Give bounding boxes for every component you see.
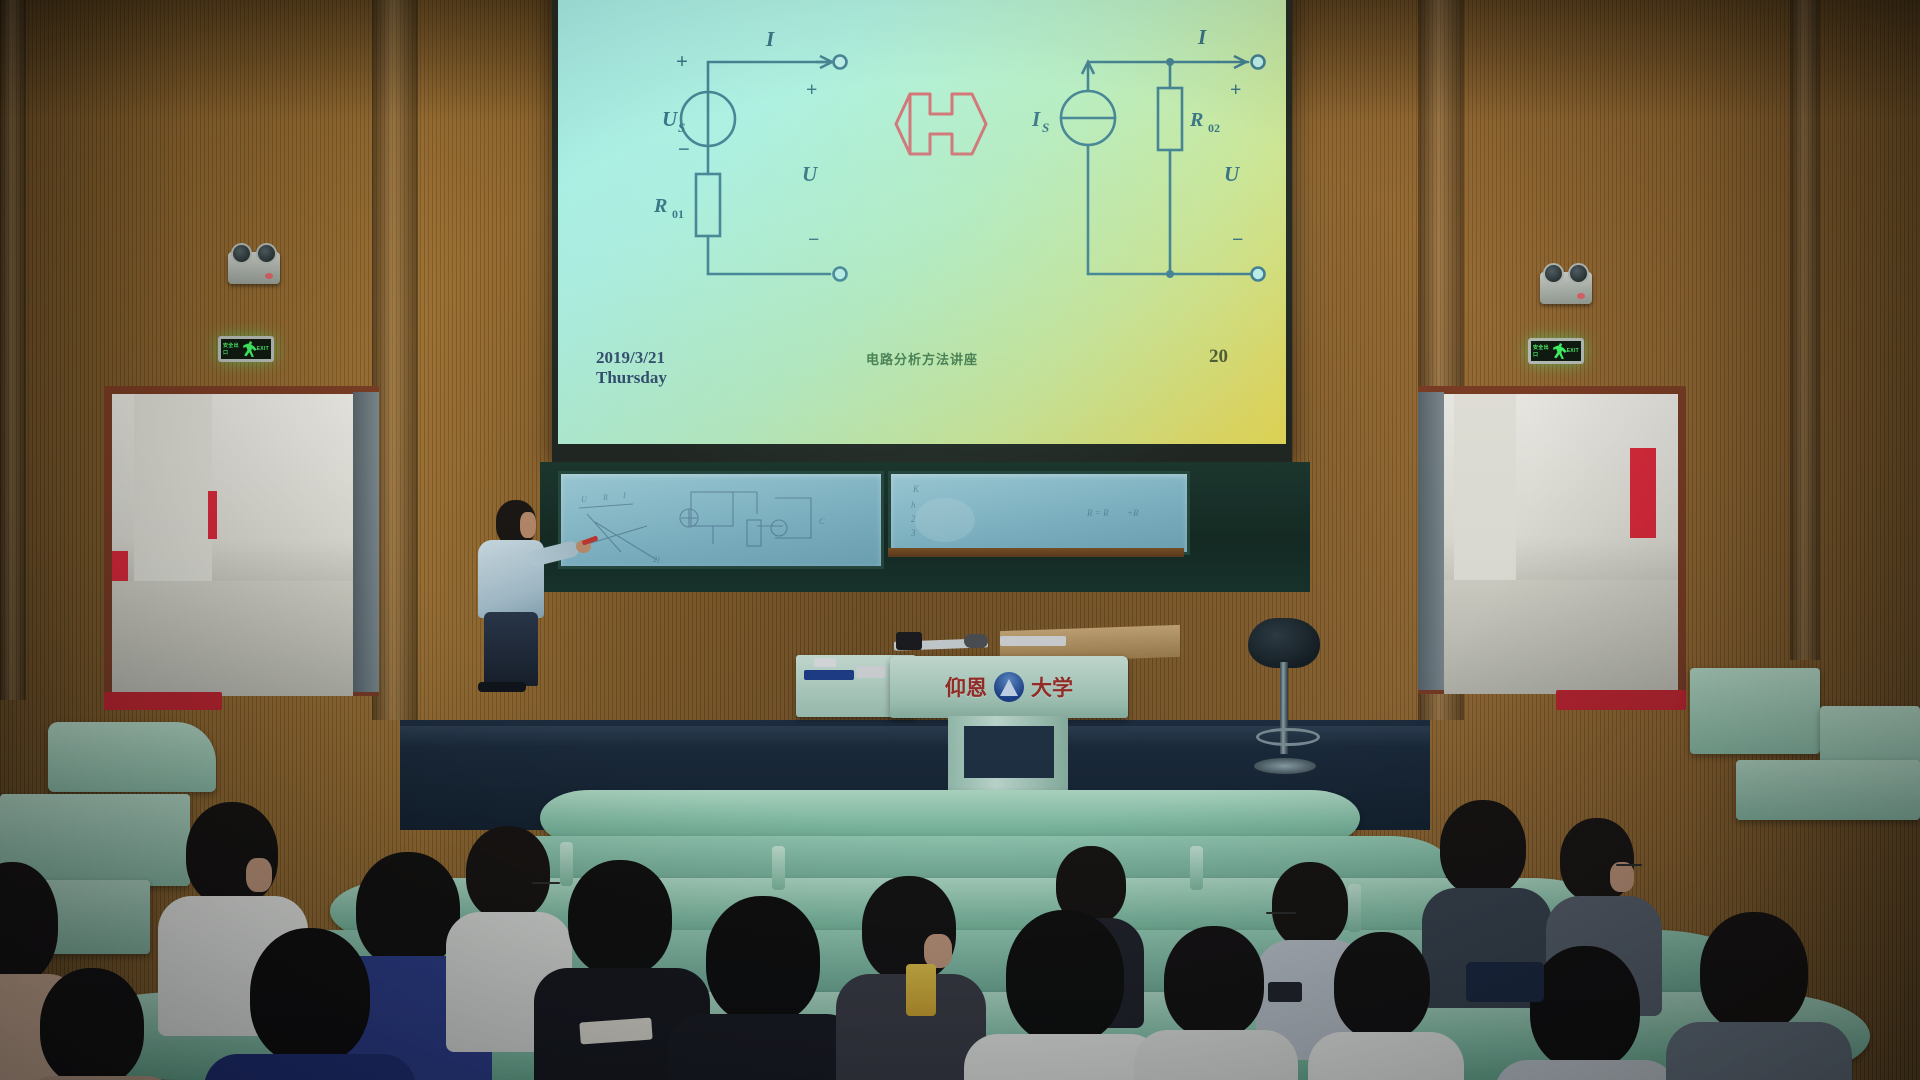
- slide-footer-title: 电路分析方法讲座: [558, 349, 1286, 368]
- student-torso: [1494, 1060, 1678, 1080]
- whiteboard-rail: [888, 548, 1184, 557]
- slide-surface: 电路分析方法 U: [558, 0, 1286, 444]
- lecture-hall-photo: 安全出口 EXIT 安全出口 EXIT 电路分析方法: [0, 0, 1920, 1080]
- side-desk-right-upper: [1690, 668, 1820, 754]
- svg-text:U: U: [802, 162, 819, 186]
- student-neck: [246, 858, 272, 892]
- side-desk-left-upper: [48, 722, 216, 792]
- whiteboard-right: Kh 23 R = R+R: [888, 471, 1190, 555]
- svg-text:h: h: [911, 500, 916, 510]
- exit-sign-label-cn: 安全出口: [223, 342, 243, 356]
- student-torso: [1308, 1032, 1464, 1080]
- svg-text:S: S: [678, 120, 685, 135]
- equipment-case: [804, 670, 854, 680]
- corridor-red-panel: [1630, 448, 1656, 538]
- bar-stool: [1240, 618, 1330, 788]
- student-head: [706, 896, 820, 1024]
- bag-on-seat: [1466, 962, 1544, 1002]
- student-torso: [668, 1014, 860, 1080]
- glasses-icon: [1616, 864, 1642, 866]
- student-torso: [1134, 1030, 1298, 1080]
- running-man-icon: [243, 341, 257, 357]
- floor-red-band-left: [104, 692, 222, 710]
- speaker-driver-icon: [1568, 263, 1589, 284]
- podium-monitor[interactable]: [964, 726, 1054, 778]
- student-neck: [924, 934, 952, 968]
- student-torso: [20, 1076, 180, 1080]
- svg-text:K: K: [912, 484, 920, 494]
- whiteboard-right-notes: Kh 23 R = R+R: [891, 474, 1187, 552]
- slide-page-number: 20: [1209, 346, 1228, 368]
- side-desk-right-far: [1736, 760, 1920, 820]
- wall-pilaster-far-left: [0, 0, 26, 700]
- svg-text:−: −: [678, 137, 690, 161]
- student-head: [1334, 932, 1430, 1040]
- university-name-part2: 大学: [1031, 672, 1073, 702]
- svg-text:U: U: [581, 495, 588, 504]
- jacket-on-stool: [1248, 618, 1320, 668]
- svg-text:2): 2): [653, 555, 660, 564]
- corridor-view-left: [112, 394, 353, 696]
- lecturer-face: [520, 512, 536, 538]
- student-neck: [1610, 862, 1634, 892]
- status-led-icon: [265, 273, 273, 279]
- lecturer-legs: [484, 612, 538, 686]
- board-surround: URI 2)C Kh 23 R = R+R: [540, 462, 1310, 592]
- student-head: [568, 860, 672, 976]
- computer-mouse-icon: [964, 634, 988, 648]
- svg-text:I: I: [622, 491, 626, 500]
- stool-base: [1254, 758, 1316, 774]
- equipment-item: [814, 658, 836, 667]
- speaker-driver-icon: [256, 243, 277, 264]
- door-leaf-right[interactable]: [1418, 392, 1444, 690]
- svg-text:−: −: [808, 229, 819, 251]
- door-leaf-left[interactable]: [353, 392, 379, 692]
- doorway-right: [1418, 386, 1686, 694]
- svg-text:R: R: [653, 195, 667, 217]
- wall-speaker-icon: [228, 252, 280, 284]
- svg-text:I: I: [1197, 25, 1207, 49]
- student-head: [250, 928, 370, 1064]
- svg-text:02: 02: [1208, 121, 1220, 135]
- student-head: [1440, 800, 1526, 896]
- wall-pilaster-far-right: [1790, 0, 1820, 660]
- corridor-floor: [1444, 580, 1678, 694]
- stool-footring: [1256, 728, 1320, 746]
- projection-screen: 电路分析方法 U: [552, 0, 1292, 462]
- whiteboard-left: URI 2)C: [558, 471, 884, 569]
- corridor-floor: [112, 581, 353, 696]
- snack-cup: [906, 964, 936, 1016]
- student-head: [1700, 912, 1808, 1032]
- svg-text:I: I: [1031, 107, 1041, 131]
- svg-text:+R: +R: [1127, 508, 1139, 518]
- svg-text:C: C: [819, 517, 825, 526]
- svg-text:S: S: [1042, 120, 1049, 135]
- seat-divider: [1348, 884, 1361, 932]
- yangen-university-shell-emblem: [994, 672, 1024, 702]
- wall-speaker-icon: [1540, 272, 1592, 304]
- exit-sign-right: 安全出口 EXIT: [1528, 338, 1584, 364]
- svg-text:+: +: [676, 49, 688, 73]
- equipment-box: [856, 666, 886, 678]
- lecturer-shoes: [478, 682, 526, 692]
- speaker-driver-icon: [1543, 263, 1564, 284]
- svg-text:U: U: [1224, 162, 1241, 186]
- circuit-diagram: U S + − R 01 I + U −: [558, 0, 1286, 326]
- exit-sign-label-en: EXIT: [257, 346, 269, 352]
- seat-divider: [1190, 846, 1203, 890]
- phone-device: [1268, 982, 1302, 1002]
- seat-divider: [772, 846, 785, 890]
- svg-text:I: I: [765, 27, 775, 51]
- svg-text:U: U: [662, 107, 679, 131]
- podium-cable: [1000, 636, 1066, 646]
- svg-text:3: 3: [910, 528, 916, 538]
- exit-sign-label-en: EXIT: [1567, 348, 1579, 354]
- svg-text:01: 01: [672, 207, 684, 221]
- running-man-icon: [1553, 343, 1567, 359]
- student-head: [40, 968, 144, 1080]
- seat-divider: [560, 842, 573, 886]
- student-head: [1006, 910, 1124, 1044]
- student-torso: [1666, 1022, 1852, 1080]
- corridor-red-marker: [208, 491, 217, 539]
- student-head: [466, 826, 550, 920]
- glasses-icon: [1266, 912, 1296, 914]
- student-head: [1164, 926, 1264, 1038]
- svg-text:R: R: [1189, 109, 1203, 131]
- corridor-pillar: [1454, 394, 1516, 604]
- university-name-part1: 仰恩: [945, 672, 987, 702]
- podium-branding: 仰恩 大学: [890, 666, 1128, 708]
- lecturer: [470, 500, 580, 680]
- svg-text:R = R: R = R: [1086, 508, 1109, 518]
- doorway-left: [104, 386, 379, 696]
- slide-weekday: Thursday: [596, 368, 667, 388]
- corridor-view-right: [1444, 394, 1678, 694]
- svg-text:+: +: [1230, 79, 1241, 101]
- whiteboard-left-notes: URI 2)C: [561, 474, 881, 566]
- svg-text:−: −: [1232, 229, 1243, 251]
- student-torso: [204, 1054, 416, 1080]
- floor-red-band-right: [1556, 690, 1686, 710]
- speaker-driver-icon: [231, 243, 252, 264]
- exit-sign-label-cn: 安全出口: [1533, 344, 1553, 358]
- student-head: [1272, 862, 1348, 948]
- svg-text:R: R: [602, 493, 608, 502]
- student-head: [1530, 946, 1640, 1070]
- svg-text:+: +: [806, 79, 817, 101]
- exit-sign-left: 安全出口 EXIT: [218, 336, 274, 362]
- status-led-icon: [1577, 293, 1585, 299]
- podium-device: [896, 632, 922, 650]
- student-head: [356, 852, 460, 968]
- corridor-red-skirting: [112, 551, 128, 581]
- glasses-icon: [532, 882, 560, 884]
- equivalence-symbol: [896, 94, 986, 154]
